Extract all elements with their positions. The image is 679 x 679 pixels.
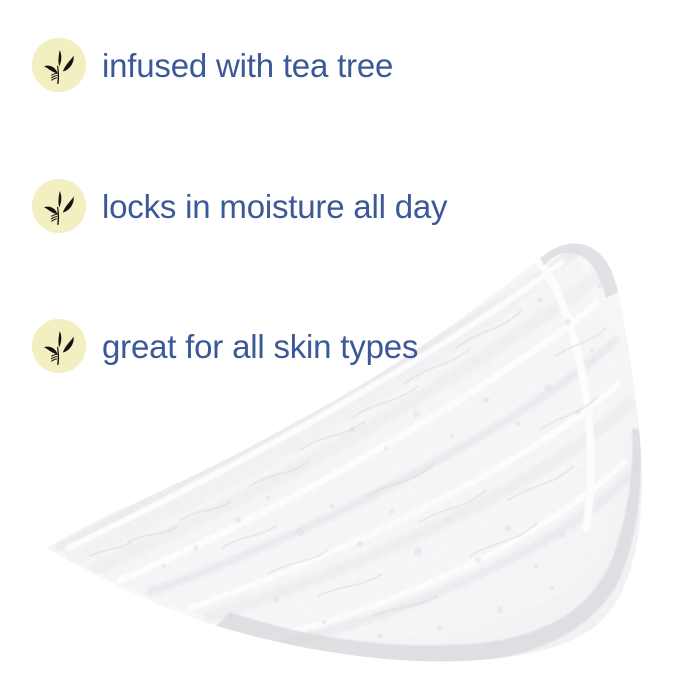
product-feature-panel: infused with tea tree locks in moisture …: [0, 0, 679, 679]
tea-leaf-sprig-icon: [32, 38, 86, 92]
feature-row: great for all skin types: [32, 319, 418, 373]
tea-leaf-sprig-icon: [32, 179, 86, 233]
feature-label: infused with tea tree: [102, 49, 393, 82]
feature-label: locks in moisture all day: [102, 190, 447, 223]
tea-leaf-sprig-icon: [32, 319, 86, 373]
feature-badge: [32, 38, 86, 92]
feature-label: great for all skin types: [102, 330, 418, 363]
feature-badge: [32, 319, 86, 373]
feature-badge: [32, 179, 86, 233]
feature-row: infused with tea tree: [32, 38, 393, 92]
feature-row: locks in moisture all day: [32, 179, 447, 233]
